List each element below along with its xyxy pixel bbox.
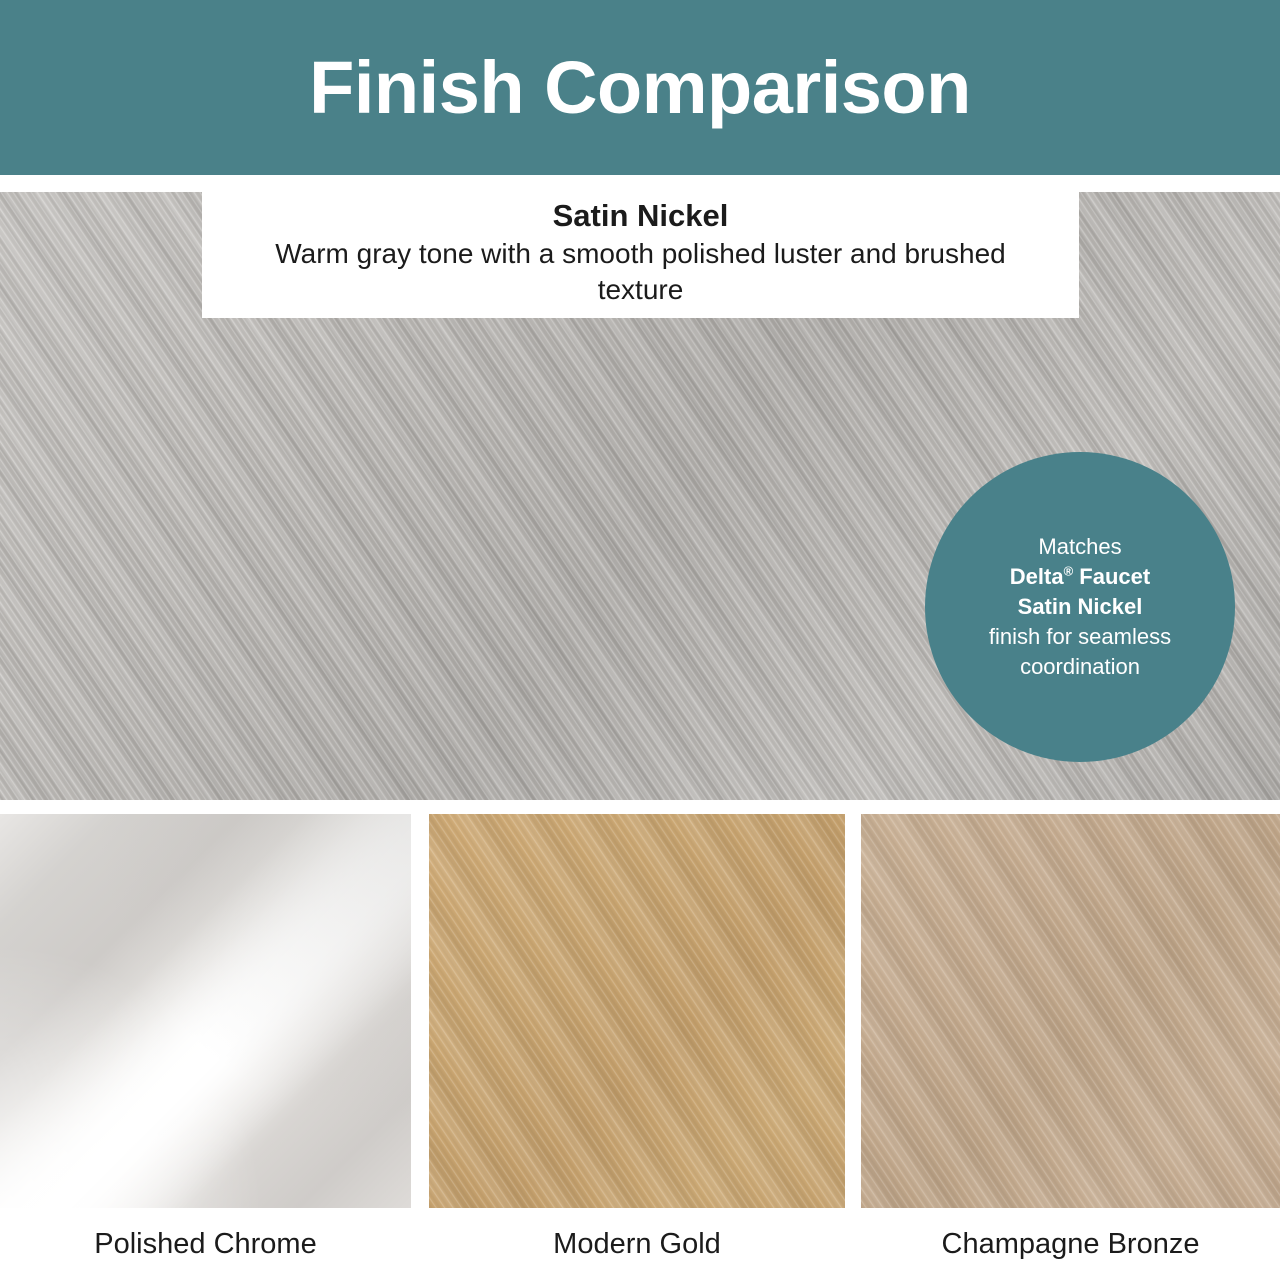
finish-caption-card: Satin Nickel Warm gray tone with a smoot… bbox=[202, 192, 1079, 318]
badge-line-matches: Matches bbox=[1038, 532, 1121, 562]
swatch-label-row: Polished Chrome Modern Gold Champagne Br… bbox=[0, 1208, 1280, 1280]
finish-description: Warm gray tone with a smooth polished lu… bbox=[256, 236, 1026, 308]
badge-brand-name: Delta bbox=[1010, 564, 1064, 589]
badge-line-coordination: coordination bbox=[1020, 652, 1140, 682]
swatch-label-champagne-bronze: Champagne Bronze bbox=[861, 1208, 1280, 1280]
finish-name: Satin Nickel bbox=[553, 198, 729, 235]
swatch-modern-gold bbox=[429, 814, 845, 1208]
badge-line-finish: Satin Nickel bbox=[1018, 592, 1143, 622]
badge-line-seamless: finish for seamless bbox=[989, 622, 1171, 652]
registered-trademark-icon: ® bbox=[1064, 564, 1074, 579]
comparison-swatch-row bbox=[0, 814, 1280, 1208]
bronze-texture-fine bbox=[861, 814, 1280, 1208]
badge-brand-suffix: Faucet bbox=[1073, 564, 1150, 589]
page-title: Finish Comparison bbox=[309, 51, 971, 125]
swatch-champagne-bronze bbox=[861, 814, 1280, 1208]
swatch-label-modern-gold: Modern Gold bbox=[429, 1208, 845, 1280]
finish-comparison-page: Finish Comparison Satin Nickel Warm gray… bbox=[0, 0, 1280, 1280]
header-banner: Finish Comparison bbox=[0, 0, 1280, 175]
swatch-label-polished-chrome: Polished Chrome bbox=[0, 1208, 411, 1280]
matches-delta-badge: Matches Delta® Faucet Satin Nickel finis… bbox=[925, 452, 1235, 762]
badge-line-brand: Delta® Faucet bbox=[1010, 562, 1150, 592]
swatch-polished-chrome bbox=[0, 814, 411, 1208]
chrome-corner-glow bbox=[0, 814, 411, 1208]
gold-texture-fine bbox=[429, 814, 845, 1208]
